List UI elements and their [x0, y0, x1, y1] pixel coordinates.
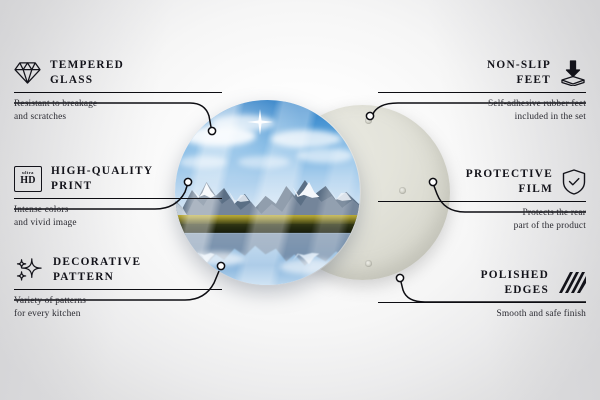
- divider: [378, 302, 586, 303]
- ultra-hd-icon: ultra HD: [14, 166, 42, 192]
- feature-header: ultra HD HIGH-QUALITY PRINT: [14, 164, 222, 193]
- feature-title: HIGH-QUALITY PRINT: [51, 164, 153, 193]
- feature-desc: Protects the rear: [378, 207, 586, 219]
- feature-desc: Variety of patterns: [14, 295, 222, 307]
- infographic-canvas: TEMPERED GLASS Resistant to breakage and…: [0, 0, 600, 400]
- divider: [14, 92, 222, 93]
- feature-desc: Intense colors: [14, 204, 222, 216]
- feature-header: NON-SLIP FEET: [378, 58, 586, 87]
- feature-polished-edges: POLISHED EDGES Smooth and safe finish: [378, 268, 586, 321]
- feature-desc: Self-adhesive rubber feet: [378, 98, 586, 110]
- feature-header: PROTECTIVE FILM: [378, 167, 586, 196]
- feature-desc: and scratches: [14, 111, 222, 123]
- feature-title: TEMPERED GLASS: [50, 58, 124, 87]
- feature-header: DECORATIVE PATTERN: [14, 255, 222, 284]
- non-slip-feet-icon: [560, 60, 586, 86]
- feature-desc: Smooth and safe finish: [378, 308, 586, 320]
- divider: [378, 201, 586, 202]
- feature-title: NON-SLIP FEET: [487, 58, 551, 87]
- callout-endpoint: [366, 112, 373, 119]
- feature-tempered-glass: TEMPERED GLASS Resistant to breakage and…: [14, 58, 222, 123]
- feature-high-quality-print: ultra HD HIGH-QUALITY PRINT Intense colo…: [14, 164, 222, 229]
- feature-desc: and vivid image: [14, 217, 222, 229]
- feature-decorative-pattern: DECORATIVE PATTERN Variety of patterns f…: [14, 255, 222, 320]
- feature-desc: for every kitchen: [14, 308, 222, 320]
- feature-title: PROTECTIVE FILM: [466, 167, 553, 196]
- feature-desc: Resistant to breakage: [14, 98, 222, 110]
- diamond-icon: [14, 61, 41, 85]
- feature-desc: part of the product: [378, 220, 586, 232]
- feature-non-slip-feet: NON-SLIP FEET Self-adhesive rubber feet …: [378, 58, 586, 123]
- shield-check-icon: [562, 169, 586, 195]
- feature-header: TEMPERED GLASS: [14, 58, 222, 87]
- sparkles-icon: [14, 257, 44, 283]
- divider: [378, 92, 586, 93]
- divider: [14, 289, 222, 290]
- feature-protective-film: PROTECTIVE FILM Protects the rear part o…: [378, 167, 586, 232]
- divider: [14, 198, 222, 199]
- feature-header: POLISHED EDGES: [378, 268, 586, 297]
- feature-title: POLISHED EDGES: [481, 268, 549, 297]
- feature-desc: included in the set: [378, 111, 586, 123]
- callout-endpoint: [208, 127, 215, 134]
- feature-title: DECORATIVE PATTERN: [53, 255, 141, 284]
- polished-edges-icon: [558, 271, 586, 295]
